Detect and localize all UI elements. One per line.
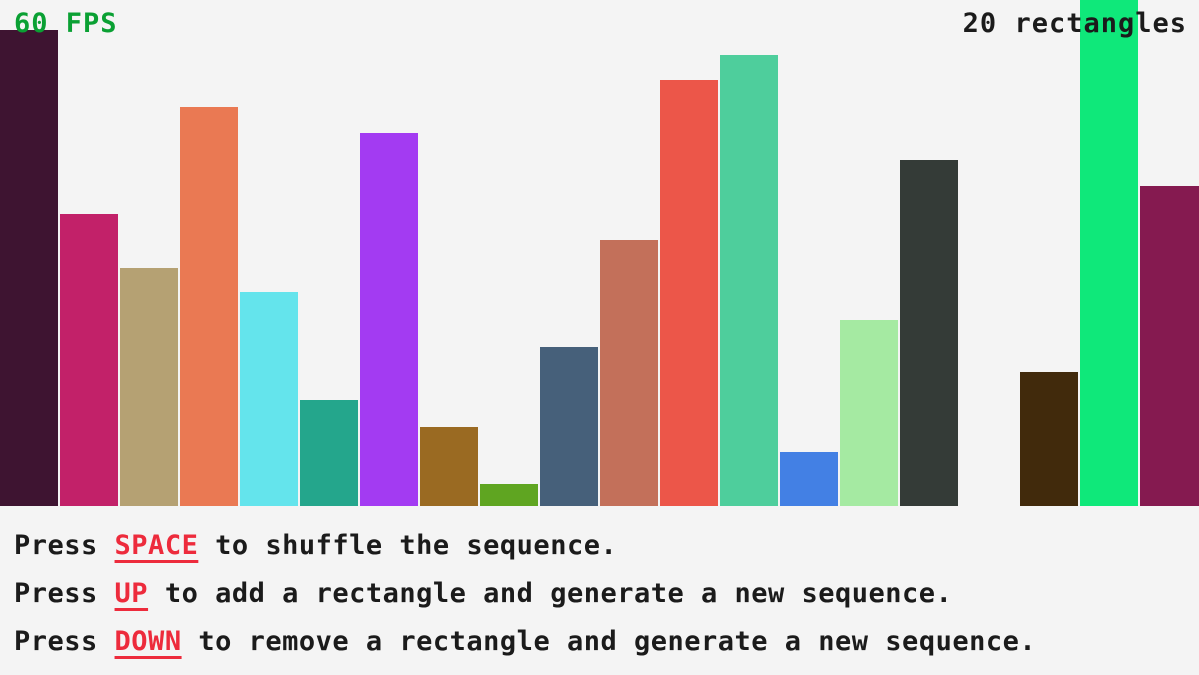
instruction-line-3: Press DOWN to remove a rectangle and gen… bbox=[14, 618, 1199, 666]
bar-18-dark-brown bbox=[1020, 372, 1078, 506]
fps-counter: 60 FPS bbox=[14, 10, 118, 37]
instruction-suffix: to add a rectangle and generate a new se… bbox=[148, 578, 952, 609]
key-space[interactable]: SPACE bbox=[115, 530, 199, 561]
bar-chart-canvas[interactable] bbox=[0, 0, 1199, 506]
bar-13-emerald bbox=[720, 55, 778, 506]
instruction-line-1: Press SPACE to shuffle the sequence. bbox=[14, 522, 1199, 570]
instruction-line-2: Press UP to add a rectangle and generate… bbox=[14, 570, 1199, 618]
key-down[interactable]: DOWN bbox=[115, 626, 182, 657]
bar-4-orange bbox=[180, 107, 238, 506]
instruction-prefix: Press bbox=[14, 530, 115, 561]
instruction-prefix: Press bbox=[14, 578, 115, 609]
instruction-prefix: Press bbox=[14, 626, 115, 657]
bar-20-dark-magenta bbox=[1140, 186, 1199, 506]
bar-12-red bbox=[660, 80, 718, 506]
bar-8-brown bbox=[420, 427, 478, 506]
bar-11-terracotta bbox=[600, 240, 658, 506]
key-up[interactable]: UP bbox=[115, 578, 149, 609]
bar-7-violet bbox=[360, 133, 418, 506]
app-root: 60 FPS 20 rectangles Press SPACE to shuf… bbox=[0, 0, 1199, 675]
bar-19-spring-green bbox=[1080, 0, 1138, 506]
bar-10-slate-blue bbox=[540, 347, 598, 506]
bar-5-cyan bbox=[240, 292, 298, 506]
bar-2-crimson-pink bbox=[60, 214, 118, 506]
bar-14-blue bbox=[780, 452, 838, 506]
instructions-panel: Press SPACE to shuffle the sequence.Pres… bbox=[0, 506, 1199, 675]
bar-1-dark-plum bbox=[0, 30, 58, 506]
bar-9-olive-green bbox=[480, 484, 538, 506]
rectangle-count-label: 20 rectangles bbox=[963, 10, 1187, 37]
bar-3-tan bbox=[120, 268, 178, 506]
bar-16-charcoal bbox=[900, 160, 958, 506]
bar-6-teal bbox=[300, 400, 358, 506]
instruction-suffix: to remove a rectangle and generate a new… bbox=[182, 626, 1037, 657]
instruction-suffix: to shuffle the sequence. bbox=[198, 530, 617, 561]
bar-15-light-green bbox=[840, 320, 898, 506]
